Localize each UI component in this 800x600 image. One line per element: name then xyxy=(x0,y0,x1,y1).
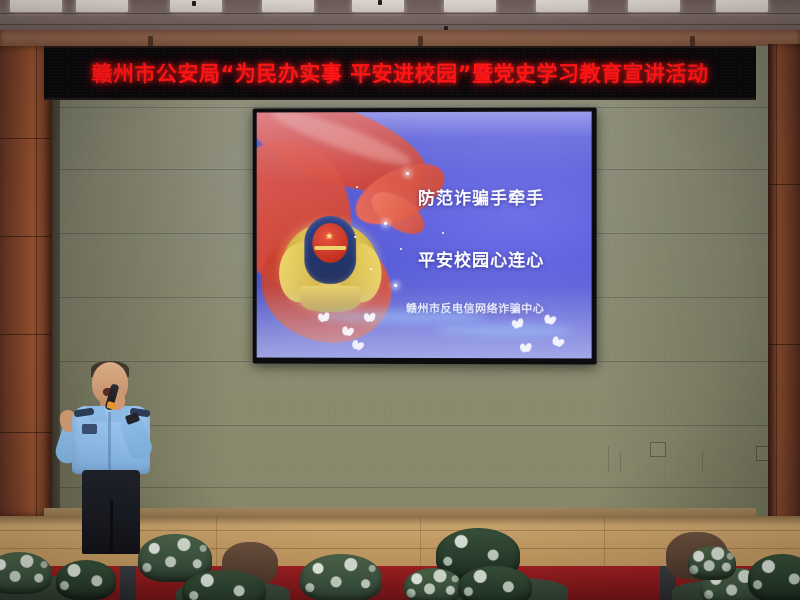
ceiling-light-panel xyxy=(444,0,496,12)
ceiling-seam xyxy=(0,13,800,14)
seat-divider xyxy=(120,566,136,600)
projection-screen: ★ 防范诈骗手牵手 平安校园心连心 赣州市反电信网络诈骗中心 xyxy=(257,112,592,359)
camouflage-cap xyxy=(688,546,736,580)
ceiling-light-panel xyxy=(628,0,680,12)
ceiling-light-panel xyxy=(170,0,222,12)
wood-seam xyxy=(0,138,52,139)
wood-seam xyxy=(768,344,800,345)
camouflage-cap xyxy=(300,554,382,600)
ceiling-sprinkler-icon xyxy=(378,0,382,5)
camouflage-cap xyxy=(56,560,116,600)
speaker-shirt-placket xyxy=(108,412,111,472)
ceiling-light-panel xyxy=(536,0,588,12)
ceiling-light-panel xyxy=(716,0,768,12)
speaker-chest-badge xyxy=(82,424,97,434)
wood-seam xyxy=(0,236,52,237)
right-wood-panel xyxy=(768,44,800,522)
camouflage-cap xyxy=(748,554,800,600)
projection-screen-frame: ★ 防范诈骗手牵手 平安校园心连心 赣州市反电信网络诈骗中心 xyxy=(253,107,597,364)
wood-seam xyxy=(0,334,52,335)
ceiling-sprinkler-icon xyxy=(192,1,196,6)
ceiling xyxy=(0,0,800,34)
camouflage-cap xyxy=(458,566,532,600)
wood-seam xyxy=(776,44,777,522)
ceiling-light-panel xyxy=(76,0,128,12)
camouflage-cap xyxy=(0,552,52,594)
screen-haze xyxy=(257,112,592,359)
wood-seam xyxy=(768,184,800,185)
wood-seam xyxy=(0,432,52,433)
led-banner: 赣州市公安局“为民办实事 平安进校园”暨党史学习教育宣讲活动 xyxy=(44,46,756,100)
banner-title: 赣州市公安局“为民办实事 平安进校园”暨党史学习教育宣讲活动 xyxy=(92,58,709,88)
auditorium-scene: 赣州市公安局“为民办实事 平安进校园”暨党史学习教育宣讲活动 ★ xyxy=(0,0,800,600)
wood-seam xyxy=(36,46,37,516)
camouflage-cap xyxy=(404,568,462,600)
ceiling-light-panel xyxy=(10,0,62,12)
ceiling-light-panel xyxy=(262,0,314,12)
ceiling-seam xyxy=(0,24,800,25)
left-wood-panel xyxy=(0,46,52,516)
audience-front-row xyxy=(0,520,800,600)
